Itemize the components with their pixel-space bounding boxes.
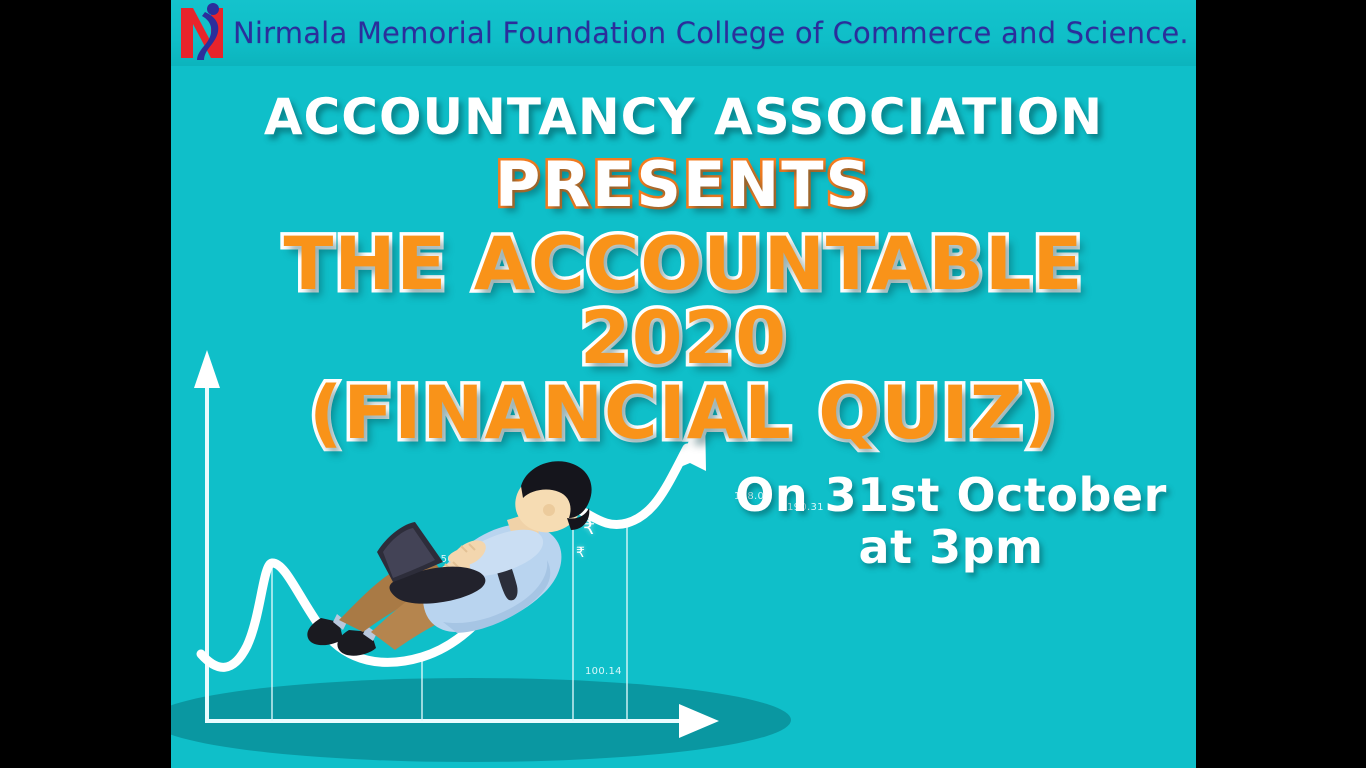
college-name: Nirmala Memorial Foundation College of C…: [233, 16, 1189, 50]
event-title-line1: THE ACCOUNTABLE 2020: [284, 222, 1084, 381]
person-with-laptop-illustration: [307, 461, 591, 655]
event-title-line2: (FINANCIAL QUIZ): [171, 377, 1196, 451]
poster-canvas: Nirmala Memorial Foundation College of C…: [171, 0, 1196, 768]
event-title: THE ACCOUNTABLE 2020 (FINANCIAL QUIZ): [171, 228, 1196, 451]
title-block: ACCOUNTANCY ASSOCIATION PRESENTS THE ACC…: [171, 66, 1196, 451]
nmf-college-logo-icon: [171, 0, 233, 66]
letterbox-bar-right: [1196, 0, 1366, 768]
trend-curve: [201, 448, 687, 667]
association-title: ACCOUNTANCY ASSOCIATION: [171, 92, 1196, 142]
header-bar: Nirmala Memorial Foundation College of C…: [171, 0, 1196, 66]
poster-stage: Nirmala Memorial Foundation College of C…: [0, 0, 1366, 768]
event-datetime: On 31st October at 3pm: [716, 470, 1186, 573]
event-date: On 31st October: [716, 470, 1186, 522]
presents-title: PRESENTS: [171, 154, 1196, 216]
event-time: at 3pm: [716, 522, 1186, 574]
letterbox-bar-left: [0, 0, 171, 768]
